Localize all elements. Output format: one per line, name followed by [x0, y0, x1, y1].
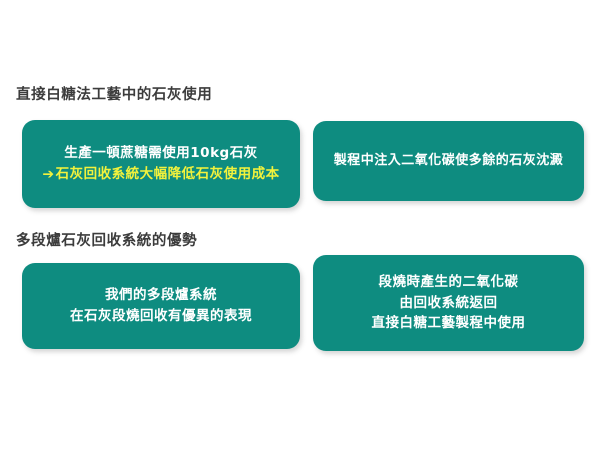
- card-line-lime-recovery-cost: ➔ 石灰回收系統大幅降低石灰使用成本: [42, 164, 279, 185]
- card-line-co2-returned: 由回收系統返回: [400, 293, 498, 314]
- card-line-co2-generated: 段燒時產生的二氧化碳: [379, 272, 519, 293]
- card-line-furnace-system: 我們的多段爐系統: [105, 285, 217, 306]
- card-line-lime-recovery-cost-text: 石灰回收系統大幅降低石灰使用成本: [56, 164, 280, 185]
- card-co2-recycle: 段燒時產生的二氧化碳 由回收系統返回 直接白糖工藝製程中使用: [313, 255, 584, 351]
- arrow-right-icon: ➔: [42, 168, 54, 182]
- section-heading-advantages: 多段爐石灰回收系統的優勢: [16, 234, 197, 249]
- card-line-furnace-recovery: 在石灰段燒回收有優異的表現: [70, 306, 252, 327]
- card-furnace-performance: 我們的多段爐系統 在石灰段燒回收有優異的表現: [22, 263, 300, 349]
- card-line-co2-reused: 直接白糖工藝製程中使用: [372, 313, 526, 334]
- section-heading-lime-use: 直接白糖法工藝中的石灰使用: [16, 88, 212, 103]
- slide-canvas: 直接白糖法工藝中的石灰使用 生產一頓蔗糖需使用10kg石灰 ➔ 石灰回收系統大幅…: [0, 0, 600, 450]
- card-co2-injection: 製程中注入二氧化碳使多餘的石灰沈澱: [313, 121, 584, 201]
- card-line-co2-injection: 製程中注入二氧化碳使多餘的石灰沈澱: [334, 151, 564, 171]
- card-lime-consumption: 生產一頓蔗糖需使用10kg石灰 ➔ 石灰回收系統大幅降低石灰使用成本: [22, 120, 300, 208]
- card-line-lime-consumption-amount: 生產一頓蔗糖需使用10kg石灰: [64, 143, 257, 164]
